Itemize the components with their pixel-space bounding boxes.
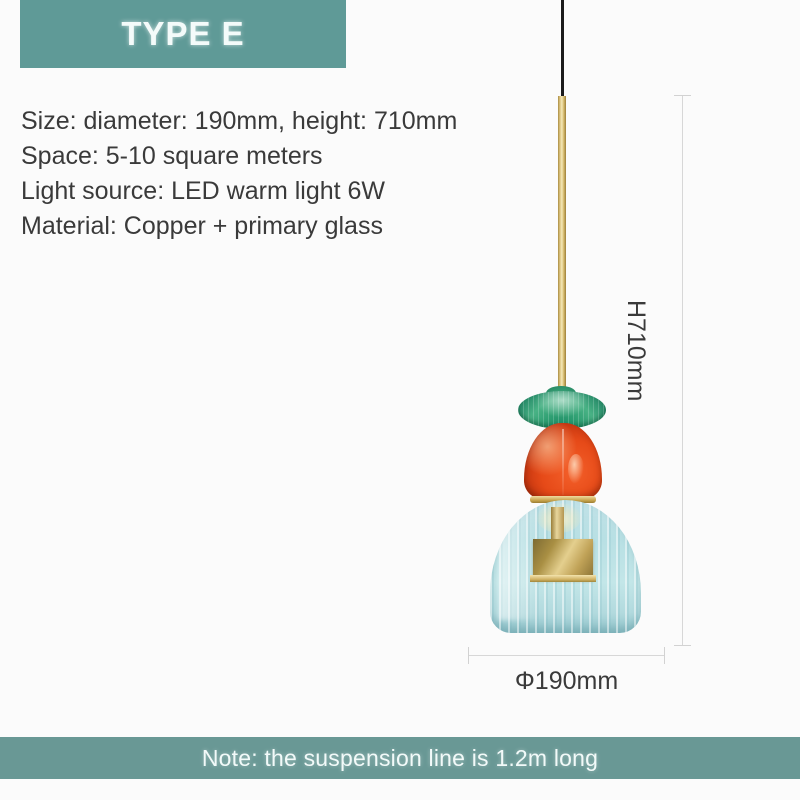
brass-bulb-lip	[530, 575, 596, 582]
suspension-cord	[561, 0, 564, 98]
note-bar-label: Note: the suspension line is 1.2m long	[202, 745, 598, 772]
blue-ribbed-glass-shade	[490, 500, 641, 633]
spec-list: Size: diameter: 190mm, height: 710mm Spa…	[21, 104, 541, 244]
spec-line-material: Material: Copper + primary glass	[21, 209, 541, 244]
type-banner: TYPE E	[20, 0, 346, 68]
orange-glass-bell	[524, 423, 602, 501]
shade-sheen	[499, 505, 538, 619]
spec-line-size: Size: diameter: 190mm, height: 710mm	[21, 104, 541, 139]
note-bar: Note: the suspension line is 1.2m long	[0, 737, 800, 779]
orange-glass-highlight	[568, 454, 584, 484]
spec-line-space: Space: 5-10 square meters	[21, 139, 541, 174]
product-spec-card: TYPE E Size: diameter: 190mm, height: 71…	[0, 0, 800, 800]
diameter-tick-left	[468, 647, 469, 664]
brass-rod	[558, 96, 566, 402]
shade-ribs	[490, 500, 641, 633]
diameter-dimension-label: Φ190mm	[468, 667, 665, 696]
bulb-neck	[551, 507, 564, 541]
diameter-dimension-line	[468, 655, 665, 656]
height-tick-bottom	[674, 645, 691, 646]
height-dimension-label: H710mm	[621, 300, 650, 401]
spec-line-light-source: Light source: LED warm light 6W	[21, 174, 541, 209]
height-dimension-line	[682, 95, 683, 646]
bulb-glow	[537, 503, 581, 533]
orange-glass-seam	[562, 429, 564, 495]
green-glass-stem	[546, 386, 576, 400]
brass-bulb-holder	[533, 539, 593, 579]
green-glass-disc	[518, 391, 606, 429]
height-tick-top	[674, 95, 691, 96]
diameter-tick-right	[664, 647, 665, 664]
brass-collar	[530, 496, 596, 503]
green-disc-ridges	[518, 391, 606, 429]
type-banner-label: TYPE E	[121, 15, 244, 53]
